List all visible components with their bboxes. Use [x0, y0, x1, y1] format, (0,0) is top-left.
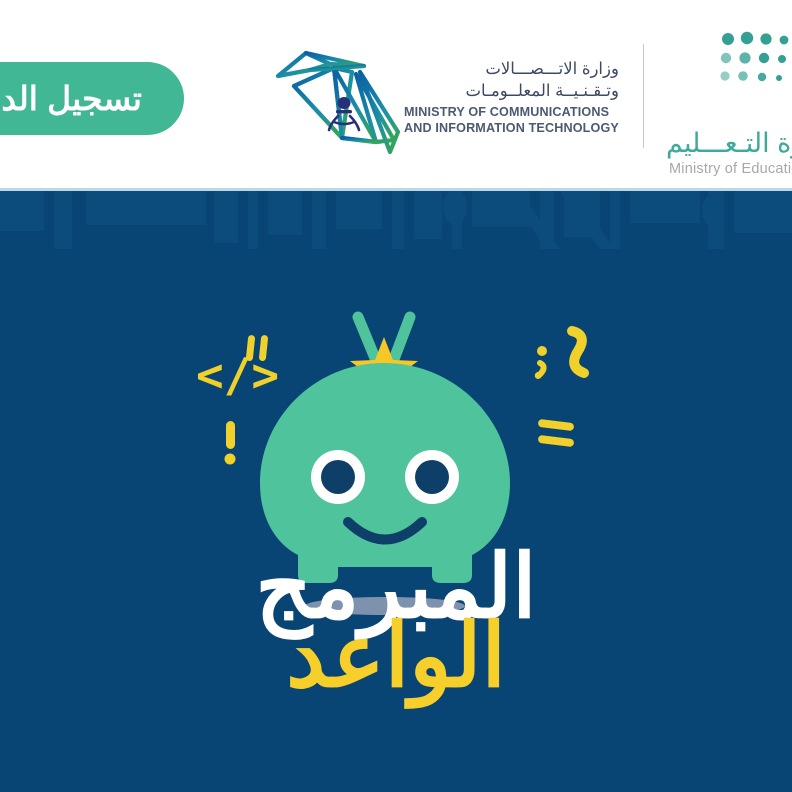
mcit-english-line-2: AND INFORMATION TECHNOLOGY [404, 121, 619, 137]
page-header: تسجيل الدخول [0, 0, 792, 191]
moe-dot-matrix-mark [718, 30, 792, 92]
mcit-arabic-line-2: وتـقـنـيــة المعلــومـات [404, 81, 619, 103]
moe-arabic-label: وزارة التـعـــليم [666, 128, 792, 159]
login-button[interactable]: تسجيل الدخول [0, 62, 184, 135]
ministry-of-communications-logo: وزارة الاتـــصـــالات وتـقـنـيــة المعلـ… [272, 33, 619, 163]
svg-text:</>: </> [196, 348, 279, 402]
page-title: المبرمج الواعد [0, 546, 792, 697]
mcit-arabic-line-1: وزارة الاتـــصـــالات [404, 59, 619, 81]
mcit-logo-text: وزارة الاتـــصـــالات وتـقـنـيــة المعلـ… [404, 46, 619, 150]
title-line-2: الواعد [0, 615, 792, 698]
mcit-english-line-1: MINISTRY OF COMMUNICATIONS [404, 105, 619, 121]
hero-section: </> المبرمج الواعد [0, 191, 792, 792]
mcit-geometric-mark [272, 34, 400, 162]
ministry-of-education-logo: وزارة التـعـــليم Ministry of Education [666, 30, 792, 170]
logo-divider [643, 44, 644, 148]
background-pattern-watermark [0, 191, 792, 249]
login-button-label: تسجيل الدخول [0, 79, 148, 118]
moe-english-label: Ministry of Education [669, 161, 792, 177]
